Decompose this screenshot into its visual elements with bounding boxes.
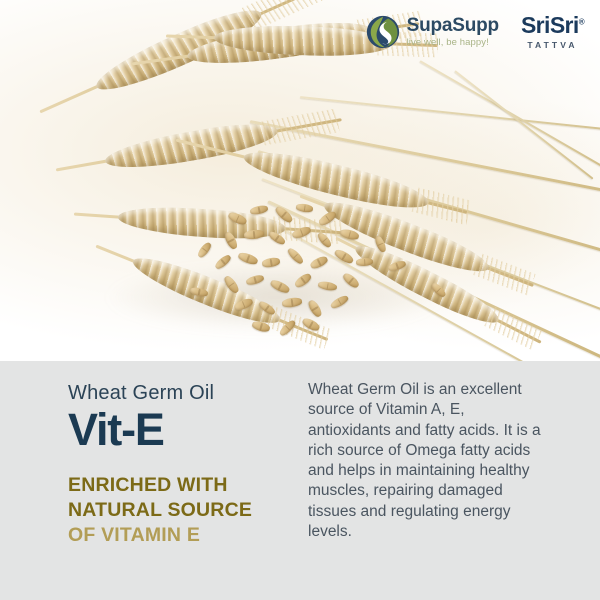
advertisement-canvas: SupaSupp live well, be happy! SriSri® TA… bbox=[0, 0, 600, 600]
registered-trademark-icon: ® bbox=[579, 17, 584, 26]
claim-line-1: ENRICHED WITH bbox=[68, 473, 282, 498]
product-claim: ENRICHED WITH NATURAL SOURCE OF VITAMIN … bbox=[68, 473, 282, 548]
product-description: Wheat Germ Oil is an excellent source of… bbox=[308, 380, 550, 542]
supasupp-logo-text: SupaSupp live well, be happy! bbox=[407, 16, 499, 48]
product-title: Vit-E bbox=[68, 407, 282, 453]
brand-logo-bar: SupaSupp live well, be happy! SriSri® TA… bbox=[366, 14, 584, 50]
supasupp-logo[interactable]: SupaSupp live well, be happy! bbox=[366, 15, 499, 49]
panel-left-column: Wheat Germ Oil Vit-E ENRICHED WITH NATUR… bbox=[0, 361, 300, 600]
supasupp-swirl-logo-icon bbox=[366, 15, 400, 49]
supasupp-tagline: live well, be happy! bbox=[407, 38, 499, 48]
srisri-name: SriSri® bbox=[521, 14, 584, 37]
claim-line-3: OF VITAMIN E bbox=[68, 523, 282, 548]
supasupp-name: SupaSupp bbox=[407, 16, 499, 35]
srisri-name-text: SriSri bbox=[521, 12, 579, 38]
claim-line-2: NATURAL SOURCE bbox=[68, 498, 282, 523]
srisri-subtitle: TATTVA bbox=[527, 41, 577, 50]
product-hero-photo: SupaSupp live well, be happy! SriSri® TA… bbox=[0, 0, 600, 361]
info-panel: Wheat Germ Oil Vit-E ENRICHED WITH NATUR… bbox=[0, 361, 600, 600]
product-kicker: Wheat Germ Oil bbox=[68, 382, 282, 405]
srisri-tattva-logo[interactable]: SriSri® TATTVA bbox=[521, 14, 584, 50]
panel-right-column: Wheat Germ Oil is an excellent source of… bbox=[300, 361, 600, 600]
